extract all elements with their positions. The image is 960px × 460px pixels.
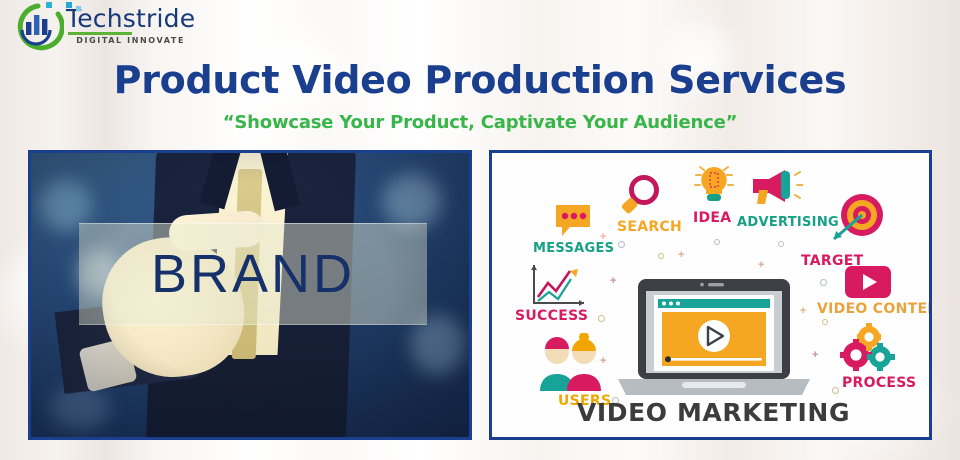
brand-photo: BRAND — [31, 153, 469, 437]
video-marketing-infographic: + + + + + + + MESSAGES — [492, 153, 929, 437]
label-messages: MESSAGES — [533, 241, 614, 256]
promo-banner: Techstride DIGITAL INNOVATE Product Vide… — [0, 0, 960, 460]
circle-decoration — [598, 315, 605, 322]
circle-decoration — [658, 253, 664, 259]
brand-photo-panel: BRAND — [28, 150, 472, 440]
label-process: PROCESS — [842, 375, 916, 391]
label-advertising: ADVERTISING — [737, 215, 839, 230]
circle-decoration — [618, 241, 625, 248]
dartboard-icon — [832, 191, 888, 245]
laptop-icon — [616, 279, 812, 403]
megaphone-icon — [747, 167, 803, 211]
label-search: SEARCH — [617, 219, 682, 235]
infographic-caption: VIDEO MARKETING — [492, 398, 932, 427]
brand-tagline: DIGITAL INNOVATE — [66, 37, 195, 45]
growth-chart-icon — [528, 263, 588, 313]
people-icon — [536, 333, 606, 397]
circle-decoration — [778, 241, 784, 247]
label-idea: IDEA — [693, 210, 731, 226]
plus-decoration: + — [678, 249, 684, 261]
label-video-content: VIDEO CONTENT — [817, 301, 932, 317]
bar-chart-circle-logo-icon — [8, 2, 64, 52]
play-badge-icon — [844, 265, 892, 299]
lightbulb-icon — [692, 163, 736, 211]
logo-underline — [68, 32, 132, 35]
brand-name: Techstride — [66, 6, 195, 31]
circle-decoration — [832, 387, 839, 394]
circle-decoration — [822, 319, 828, 325]
circle-decoration — [820, 279, 827, 286]
brand-logo[interactable]: Techstride DIGITAL INNOVATE — [8, 2, 195, 52]
page-title: Product Video Production Services — [0, 58, 960, 102]
page-subtitle: “Showcase Your Product, Captivate Your A… — [0, 112, 960, 133]
gears-icon — [836, 323, 898, 379]
plus-decoration: + — [758, 259, 764, 271]
logo-dot — [66, 2, 72, 8]
logo-dot — [76, 6, 81, 11]
circle-decoration — [714, 239, 720, 245]
label-success: SUCCESS — [515, 308, 588, 324]
video-marketing-panel: + + + + + + + MESSAGES — [489, 150, 932, 440]
speech-bubble-icon — [554, 203, 596, 241]
magnifier-icon — [616, 173, 662, 221]
plus-decoration: + — [812, 349, 818, 361]
photo-vignette — [31, 153, 469, 437]
logo-dot — [46, 2, 52, 8]
